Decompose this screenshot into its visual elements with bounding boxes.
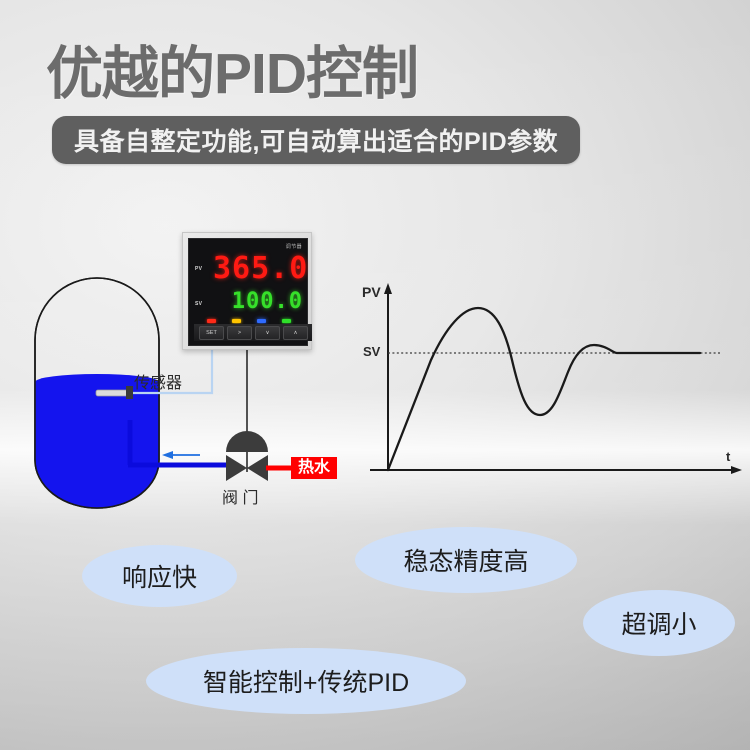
up-button[interactable]: ∧ (283, 326, 308, 340)
chart-setpoint-label: SV (363, 344, 380, 359)
feature-bubble-smart-plus-classic-pid: 智能控制+传统PID (146, 648, 466, 714)
sensor-probe (96, 390, 130, 396)
valve-actuator (226, 431, 268, 452)
controller-brand-label: 调节器 (286, 243, 302, 250)
sensor-label: 传感器 (134, 369, 182, 393)
valve-body-left (226, 455, 247, 481)
alm1-led-icon (207, 319, 216, 323)
valve-body-right (247, 455, 268, 481)
sv-display-value: 100.0 (213, 291, 303, 313)
pv-response-curve (388, 308, 700, 470)
set-button[interactable]: SET (199, 326, 224, 340)
controller-display-face: 调节器 PV 365.0 SV 100.0 ALM1 ALM2 AUT/M (188, 238, 308, 346)
chart-y-arrow (384, 283, 392, 294)
auto-manual-led-icon (257, 319, 266, 323)
shift-button[interactable]: > (227, 326, 252, 340)
chart-x-axis-label: t (726, 449, 730, 464)
alm2-led-icon (232, 319, 241, 323)
sensor-head (126, 386, 133, 399)
feature-bubble-steady-accuracy: 稳态精度高 (355, 527, 577, 593)
pid-controller-device[interactable]: 调节器 PV 365.0 SV 100.0 ALM1 ALM2 AUT/M (182, 232, 312, 350)
chart-y-axis-label: PV (362, 284, 381, 300)
pv-display-value: 365.0 (213, 254, 303, 284)
controller-keypad[interactable]: SET > ∨ ∧ (194, 324, 312, 341)
feature-bubble-fast-response: 响应快 (82, 545, 237, 607)
sv-label: SV (195, 301, 202, 307)
valve-label: 阀 门 (222, 484, 258, 508)
out-led-icon (282, 319, 291, 323)
feature-bubble-low-overshoot: 超调小 (583, 590, 735, 656)
down-button[interactable]: ∨ (255, 326, 280, 340)
flow-arrow-head (162, 451, 173, 459)
pv-label: PV (195, 266, 202, 272)
hot-water-label: 热水 (291, 457, 337, 479)
chart-x-arrow (731, 466, 742, 474)
poster-canvas: 优越的PID控制 具备自整定功能,可自动算出适合的PID参数 (0, 0, 750, 750)
